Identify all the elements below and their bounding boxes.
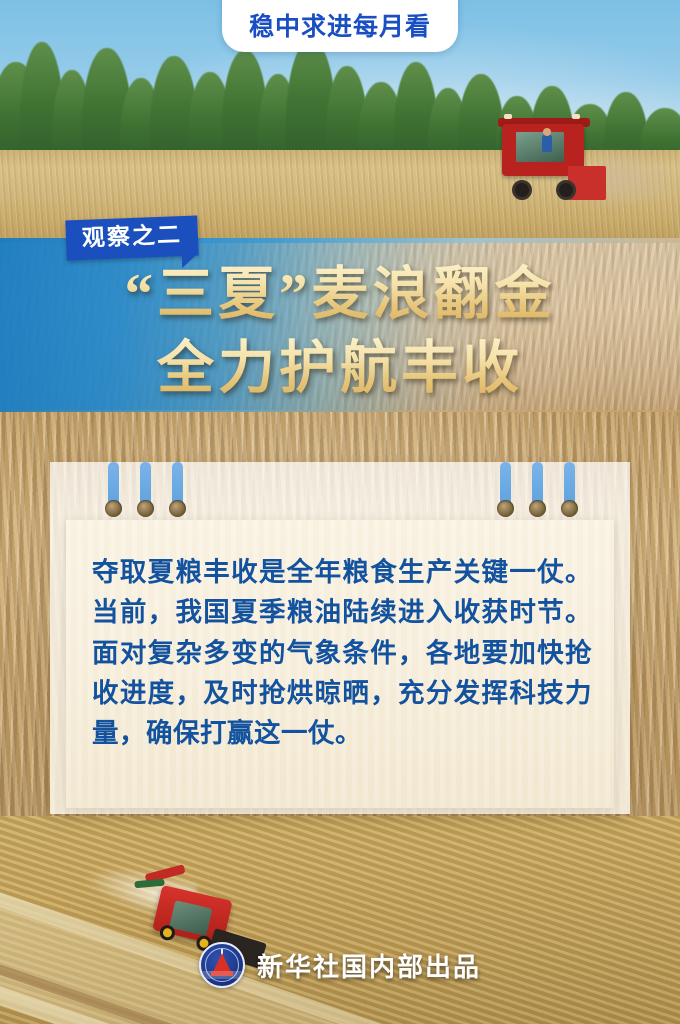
top-badge-label: 稳中求进每月看 bbox=[249, 7, 431, 43]
combine-harvester-icon bbox=[494, 110, 606, 200]
aerial-harvest-photo bbox=[0, 816, 680, 1024]
title-line-2: 全力护航丰收 bbox=[0, 332, 680, 406]
top-badge: 稳中求进每月看 bbox=[222, 0, 458, 52]
paper-clip bbox=[500, 462, 511, 506]
poster: 观察之二 “三夏”麦浪翻金 全力护航丰收 bbox=[0, 0, 680, 1024]
paper-clip bbox=[108, 462, 119, 506]
paper-clip bbox=[564, 462, 575, 506]
title-line-1: “三夏”麦浪翻金 bbox=[0, 258, 680, 332]
paper-clip bbox=[140, 462, 151, 506]
body-paragraph: 夺取夏粮丰收是全年粮食生产关键一仗。当前，我国夏季粮油陆续进入收获时节。面对复杂… bbox=[92, 552, 592, 753]
paper-clip bbox=[532, 462, 543, 506]
footer-label: 新华社国内部出品 bbox=[257, 947, 481, 984]
observe-tag-tail bbox=[182, 254, 197, 268]
harvest-dust bbox=[596, 148, 680, 202]
page-title: “三夏”麦浪翻金 全力护航丰收 bbox=[0, 258, 680, 406]
footer: 新华社国内部出品 bbox=[0, 942, 680, 988]
observe-tag-label: 观察之二 bbox=[65, 215, 198, 260]
paper-clip bbox=[172, 462, 183, 506]
observe-tag: 观察之二 bbox=[65, 215, 198, 260]
xinhua-logo-icon bbox=[199, 942, 245, 988]
